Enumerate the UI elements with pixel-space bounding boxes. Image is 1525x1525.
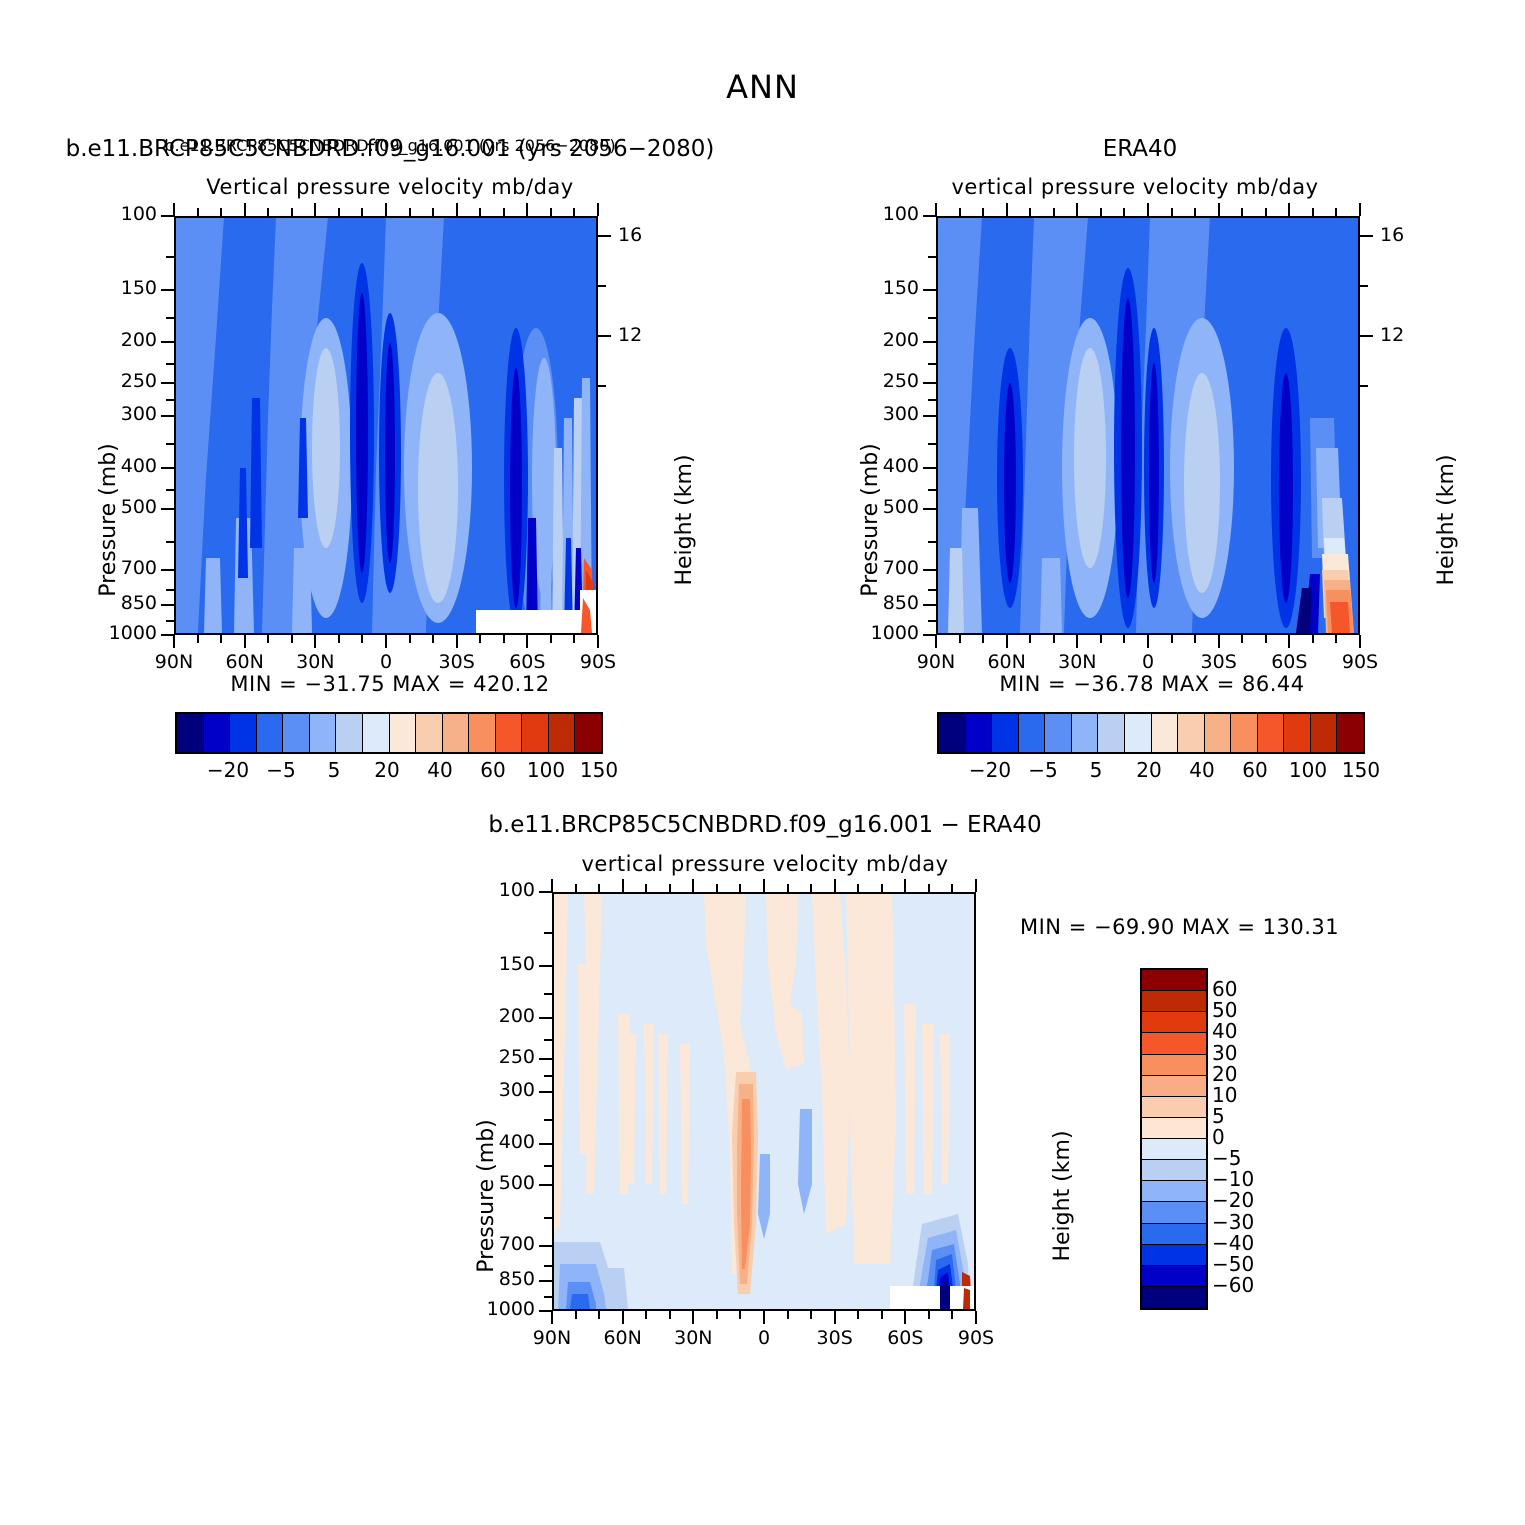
ytick-minor-model (166, 443, 174, 445)
xtick-minor-diff (716, 1311, 718, 1319)
ytick-minor-diff (544, 1039, 552, 1041)
xtick-minor-model (338, 208, 340, 216)
colorbar-cell (1142, 1266, 1206, 1287)
xtick-minor-obs (1194, 635, 1196, 643)
colorbar-cell (257, 714, 284, 752)
ytick-diff-850 (539, 1280, 552, 1282)
ytick-label-model-1000: 1000 (79, 622, 157, 644)
colorbar-cell (1142, 1033, 1206, 1054)
colorbar-cell (283, 714, 310, 752)
colorbar-cell (363, 714, 390, 752)
xtick-model-90S-bottom (597, 635, 599, 648)
colorbar-cell (1142, 1224, 1206, 1245)
xtick-obs-60N-top (1006, 203, 1008, 216)
xtick-model-30N-bottom (314, 635, 316, 648)
colorbar-cell (177, 714, 204, 752)
xtick-diff-60S-bottom (904, 1311, 906, 1324)
xtick-minor-obs (959, 635, 961, 643)
ytick-minor-model (166, 399, 174, 401)
xtick-minor-diff (810, 1311, 812, 1319)
xtick-minor-model (267, 208, 269, 216)
xtick-model-90S-top (597, 203, 599, 216)
colorbar-label: 5 (1090, 758, 1103, 782)
panel-subtitle-model: Vertical pressure velocity mb/day (0, 175, 780, 199)
xtick-minor-model (220, 208, 222, 216)
xtick-minor-diff (928, 1311, 930, 1319)
xtick-minor-obs (1123, 208, 1125, 216)
colorbar-label: −60 (1212, 1273, 1254, 1297)
ytick-label-model-200: 200 (79, 329, 157, 351)
colorbar-label: 40 (1189, 758, 1214, 782)
xtick-diff-30S-top (834, 879, 836, 892)
xtick-minor-diff (739, 884, 741, 892)
xtick-minor-model (479, 208, 481, 216)
colorbar-cell (230, 714, 257, 752)
ytick-label-obs-150: 150 (841, 277, 919, 299)
colorbar-cell (1284, 714, 1311, 752)
y2tick-label-obs-12: 12 (1380, 324, 1420, 346)
xtick-minor-obs (1171, 208, 1173, 216)
xtick-label-obs-90S: 90S (1315, 651, 1405, 673)
ytick-diff-400 (539, 1143, 552, 1145)
xtick-model-30N-top (314, 203, 316, 216)
xtick-minor-model (409, 208, 411, 216)
ytick-minor-diff (544, 1165, 552, 1167)
ytick-label-obs-1000: 1000 (841, 622, 919, 644)
xtick-obs-30N-top (1076, 203, 1078, 216)
xtick-model-0-bottom (385, 635, 387, 648)
xtick-minor-model (432, 208, 434, 216)
ytick-minor-model (166, 620, 174, 622)
colorbar-cell (1045, 714, 1072, 752)
colorbar-cell (1142, 1202, 1206, 1223)
xtick-minor-diff (739, 1311, 741, 1319)
xtick-model-60N-bottom (244, 635, 246, 648)
ytick-diff-500 (539, 1184, 552, 1186)
plot-area-obs[interactable] (936, 216, 1360, 635)
xtick-minor-diff (598, 884, 600, 892)
xtick-minor-obs (1053, 635, 1055, 643)
xtick-diff-0-bottom (763, 1311, 765, 1324)
plot-area-diff[interactable] (552, 892, 976, 1311)
ytick-obs-400 (923, 467, 936, 469)
ytick-minor-obs (928, 399, 936, 401)
colorbar-cell (1337, 714, 1363, 752)
ytick-minor-obs (928, 443, 936, 445)
ytick-diff-150 (539, 965, 552, 967)
xtick-diff-30S-bottom (834, 1311, 836, 1324)
ytick-label-diff-250: 250 (457, 1046, 535, 1068)
xtick-minor-obs (1029, 208, 1031, 216)
xtick-minor-diff (787, 884, 789, 892)
xtick-obs-60S-top (1288, 203, 1290, 216)
colorbar-cell (1142, 1055, 1206, 1076)
colorbar-cell (1142, 1097, 1206, 1118)
y2tick-label-obs-16: 16 (1380, 224, 1420, 246)
xtick-minor-diff (951, 1311, 953, 1319)
colorbar-cell (549, 714, 576, 752)
y2tick-minor-model (598, 285, 606, 287)
minmax-model: MIN = −31.75 MAX = 420.12 (110, 672, 670, 696)
xtick-minor-obs (1265, 635, 1267, 643)
xtick-obs-30N-bottom (1076, 635, 1078, 648)
xtick-minor-model (503, 208, 505, 216)
colorbar-cell (1098, 714, 1125, 752)
y2tick-minor-obs (1360, 285, 1368, 287)
xtick-minor-diff (881, 884, 883, 892)
ytick-minor-diff (544, 1217, 552, 1219)
colorbar-cell (1125, 714, 1152, 752)
contour-field-model (176, 218, 596, 633)
ytick-minor-diff (544, 1296, 552, 1298)
xtick-obs-90S-top (1359, 203, 1361, 216)
xtick-minor-model (409, 635, 411, 643)
xtick-minor-model (291, 635, 293, 643)
colorbar-label: 150 (1342, 758, 1380, 782)
ytick-label-obs-200: 200 (841, 329, 919, 351)
xtick-obs-0-top (1147, 203, 1149, 216)
ytick-obs-300 (923, 415, 936, 417)
xtick-minor-model (291, 208, 293, 216)
xtick-minor-model (361, 635, 363, 643)
xtick-minor-obs (959, 208, 961, 216)
xtick-minor-model (361, 208, 363, 216)
xtick-minor-obs (1265, 208, 1267, 216)
ytick-label-model-100: 100 (79, 203, 157, 225)
ytick-model-200 (161, 341, 174, 343)
xtick-minor-model (197, 208, 199, 216)
colorbar-label: 20 (1136, 758, 1161, 782)
panel-subtitle-diff: vertical pressure velocity mb/day (335, 852, 1195, 876)
xtick-minor-diff (669, 884, 671, 892)
xtick-minor-diff (575, 884, 577, 892)
colorbar-label: −5 (266, 758, 295, 782)
colorbar-cell (1142, 1181, 1206, 1202)
xtick-model-90N-top (173, 203, 175, 216)
y2tick-label-model-12: 12 (618, 324, 658, 346)
colorbar-cell (1142, 1160, 1206, 1181)
colorbar-cell (966, 714, 993, 752)
panel-title-model-text: b.e11.BRCP85C5CNBDRD.f09_g16.001 (yrs 20… (0, 136, 780, 162)
colorbar-label: 100 (527, 758, 565, 782)
xtick-minor-obs (982, 635, 984, 643)
y2tick-obs-12 (1360, 335, 1373, 337)
colorbar-cell (390, 714, 417, 752)
ytick-minor-model (166, 256, 174, 258)
ytick-model-400 (161, 467, 174, 469)
colorbar-cell (1258, 714, 1285, 752)
xtick-diff-90N-bottom (551, 1311, 553, 1324)
xtick-minor-obs (1194, 208, 1196, 216)
ytick-minor-model (166, 317, 174, 319)
ytick-label-obs-300: 300 (841, 403, 919, 425)
xtick-label-model-90S: 90S (553, 651, 643, 673)
colorbar-cell (1142, 1245, 1206, 1266)
contour-field-obs (938, 218, 1358, 633)
xtick-minor-obs (1171, 635, 1173, 643)
ytick-label-diff-1000: 1000 (457, 1298, 535, 1320)
xtick-obs-60S-bottom (1288, 635, 1290, 648)
xtick-minor-model (550, 635, 552, 643)
colorbar-cell (1142, 1012, 1206, 1033)
xtick-minor-diff (645, 1311, 647, 1319)
colorbar-label: −20 (969, 758, 1011, 782)
xtick-obs-0-bottom (1147, 635, 1149, 648)
ytick-model-700 (161, 569, 174, 571)
xtick-diff-90N-top (551, 879, 553, 892)
colorbar-cell (416, 714, 443, 752)
xtick-minor-model (550, 208, 552, 216)
colorbar-cell (1142, 1287, 1206, 1308)
colorbar-labels-obs: −20−55204060100150 (937, 758, 1361, 784)
xtick-minor-model (573, 208, 575, 216)
colorbar-cell (1142, 1118, 1206, 1139)
xtick-diff-30N-bottom (692, 1311, 694, 1324)
xtick-diff-0-top (763, 879, 765, 892)
xtick-minor-model (267, 635, 269, 643)
xtick-minor-model (338, 635, 340, 643)
ytick-minor-model (166, 541, 174, 543)
xtick-minor-obs (1053, 208, 1055, 216)
xtick-minor-diff (928, 884, 930, 892)
y2tick-minor-model (598, 385, 606, 387)
xtick-minor-obs (1312, 208, 1314, 216)
yaxis-title-model: Pressure (mb) (96, 443, 121, 597)
ytick-model-150 (161, 289, 174, 291)
xtick-minor-obs (1335, 635, 1337, 643)
colorbar-cell (204, 714, 231, 752)
xtick-diff-90S-top (975, 879, 977, 892)
ytick-diff-300 (539, 1091, 552, 1093)
xtick-minor-obs (982, 208, 984, 216)
colorbar-cell (1142, 1076, 1206, 1097)
ytick-minor-model (166, 489, 174, 491)
ytick-model-500 (161, 508, 174, 510)
figure-main-title: ANN (0, 68, 1525, 106)
plot-area-model[interactable] (174, 216, 598, 635)
ytick-label-model-300: 300 (79, 403, 157, 425)
ytick-minor-obs (928, 256, 936, 258)
colorbar-cell (1178, 714, 1205, 752)
ytick-label-model-150: 150 (79, 277, 157, 299)
colorbar-label: 20 (374, 758, 399, 782)
panel-subtitle-obs: vertical pressure velocity mb/day (745, 175, 1525, 199)
panel-title-obs: ERA40 (750, 136, 1525, 162)
xtick-minor-diff (881, 1311, 883, 1319)
xtick-model-30S-bottom (456, 635, 458, 648)
ytick-obs-850 (923, 604, 936, 606)
xtick-model-60S-top (526, 203, 528, 216)
xtick-obs-90N-top (935, 203, 937, 216)
xtick-model-60S-bottom (526, 635, 528, 648)
colorbar-cell (443, 714, 470, 752)
ytick-label-diff-150: 150 (457, 953, 535, 975)
colorbar-label: 5 (328, 758, 341, 782)
xtick-minor-diff (787, 1311, 789, 1319)
xtick-diff-60N-top (622, 879, 624, 892)
ytick-label-diff-100: 100 (457, 879, 535, 901)
colorbar-label: 40 (427, 758, 452, 782)
colorbar-cell (336, 714, 363, 752)
colorbar-labels-diff: 60504030201050−5−10−20−30−40−50−60 (1212, 968, 1302, 1306)
xtick-obs-30S-top (1218, 203, 1220, 216)
ytick-minor-diff (544, 1265, 552, 1267)
xtick-minor-obs (1029, 635, 1031, 643)
xtick-minor-diff (857, 1311, 859, 1319)
y2axis-title-obs: Height (km) (1434, 454, 1459, 585)
colorbar-obs[interactable] (937, 712, 1365, 754)
colorbar-cell (1205, 714, 1232, 752)
xtick-minor-diff (810, 884, 812, 892)
xtick-minor-model (479, 635, 481, 643)
y2axis-title-diff: Height (km) (1050, 1130, 1075, 1261)
xtick-label-diff-90S: 90S (931, 1327, 1021, 1349)
xtick-model-30S-top (456, 203, 458, 216)
colorbar-label: 150 (580, 758, 618, 782)
y2tick-minor-obs (1360, 385, 1368, 387)
ytick-obs-700 (923, 569, 936, 571)
xtick-minor-obs (1241, 635, 1243, 643)
xtick-minor-obs (1312, 635, 1314, 643)
panel-title-diff: b.e11.BRCP85C5CNBDRD.f09_g16.001 − ERA40 (335, 812, 1195, 838)
ytick-minor-obs (928, 363, 936, 365)
xtick-minor-diff (575, 1311, 577, 1319)
xtick-minor-model (503, 635, 505, 643)
xtick-obs-30S-bottom (1218, 635, 1220, 648)
xtick-diff-90S-bottom (975, 1311, 977, 1324)
colorbar-cell (469, 714, 496, 752)
xtick-minor-diff (598, 1311, 600, 1319)
xtick-model-90N-bottom (173, 635, 175, 648)
y2tick-model-12 (598, 335, 611, 337)
xtick-minor-obs (1335, 208, 1337, 216)
ytick-diff-250 (539, 1058, 552, 1060)
xtick-minor-model (220, 635, 222, 643)
ytick-label-obs-250: 250 (841, 370, 919, 392)
y2tick-model-16 (598, 235, 611, 237)
ytick-obs-500 (923, 508, 936, 510)
xtick-model-60N-top (244, 203, 246, 216)
xtick-minor-obs (1123, 635, 1125, 643)
xtick-minor-model (197, 635, 199, 643)
colorbar-cell (310, 714, 337, 752)
ytick-label-obs-100: 100 (841, 203, 919, 225)
y2tick-label-model-16: 16 (618, 224, 658, 246)
colorbar-label: 60 (480, 758, 505, 782)
contour-field-diff (554, 894, 974, 1309)
colorbar-cell (575, 714, 601, 752)
colorbar-cell (1152, 714, 1179, 752)
colorbar-cell (1142, 1139, 1206, 1160)
xtick-minor-diff (669, 1311, 671, 1319)
colorbar-cell (1142, 991, 1206, 1012)
colorbar-model[interactable] (175, 712, 603, 754)
ytick-obs-150 (923, 289, 936, 291)
yaxis-title-diff: Pressure (mb) (474, 1119, 499, 1273)
xtick-minor-obs (1100, 208, 1102, 216)
xtick-minor-model (573, 635, 575, 643)
ytick-label-model-250: 250 (79, 370, 157, 392)
colorbar-labels-model: −20−55204060100150 (175, 758, 599, 784)
ytick-diff-200 (539, 1017, 552, 1019)
xtick-minor-diff (716, 884, 718, 892)
colorbar-label: 100 (1289, 758, 1327, 782)
colorbar-label: −20 (207, 758, 249, 782)
colorbar-cell (992, 714, 1019, 752)
ytick-minor-diff (544, 1119, 552, 1121)
ytick-minor-model (166, 363, 174, 365)
ytick-model-850 (161, 604, 174, 606)
ytick-minor-obs (928, 620, 936, 622)
ytick-model-300 (161, 415, 174, 417)
ytick-minor-model (166, 589, 174, 591)
ytick-minor-obs (928, 489, 936, 491)
xtick-obs-90S-bottom (1359, 635, 1361, 648)
ytick-label-diff-200: 200 (457, 1005, 535, 1027)
ytick-model-250 (161, 382, 174, 384)
ytick-minor-obs (928, 589, 936, 591)
xtick-diff-30N-top (692, 879, 694, 892)
colorbar-label: −5 (1028, 758, 1057, 782)
ytick-obs-200 (923, 341, 936, 343)
xtick-minor-diff (645, 884, 647, 892)
ytick-minor-diff (544, 1075, 552, 1077)
ytick-minor-obs (928, 541, 936, 543)
xtick-obs-60N-bottom (1006, 635, 1008, 648)
yaxis-title-obs: Pressure (mb) (858, 443, 883, 597)
xtick-diff-60N-bottom (622, 1311, 624, 1324)
ytick-minor-diff (544, 993, 552, 995)
xtick-obs-90N-bottom (935, 635, 937, 648)
minmax-diff: MIN = −69.90 MAX = 130.31 (1020, 915, 1339, 939)
ytick-label-diff-300: 300 (457, 1079, 535, 1101)
ytick-diff-700 (539, 1245, 552, 1247)
colorbar-cell (522, 714, 549, 752)
colorbar-label: 60 (1242, 758, 1267, 782)
colorbar-cell (1142, 970, 1206, 991)
xtick-diff-60S-top (904, 879, 906, 892)
y2tick-obs-16 (1360, 235, 1373, 237)
xtick-model-0-top (385, 203, 387, 216)
colorbar-cell (939, 714, 966, 752)
colorbar-cell (496, 714, 523, 752)
xtick-minor-diff (857, 884, 859, 892)
colorbar-cell (1311, 714, 1338, 752)
xtick-minor-model (432, 635, 434, 643)
y2axis-title-model: Height (km) (672, 454, 697, 585)
xtick-minor-obs (1241, 208, 1243, 216)
ytick-obs-250 (923, 382, 936, 384)
xtick-minor-obs (1100, 635, 1102, 643)
colorbar-diff[interactable] (1140, 968, 1208, 1310)
colorbar-cell (1019, 714, 1046, 752)
minmax-obs: MIN = −36.78 MAX = 86.44 (872, 672, 1432, 696)
ytick-minor-diff (544, 932, 552, 934)
colorbar-cell (1072, 714, 1099, 752)
xtick-minor-diff (951, 884, 953, 892)
colorbar-cell (1231, 714, 1258, 752)
ytick-minor-obs (928, 317, 936, 319)
